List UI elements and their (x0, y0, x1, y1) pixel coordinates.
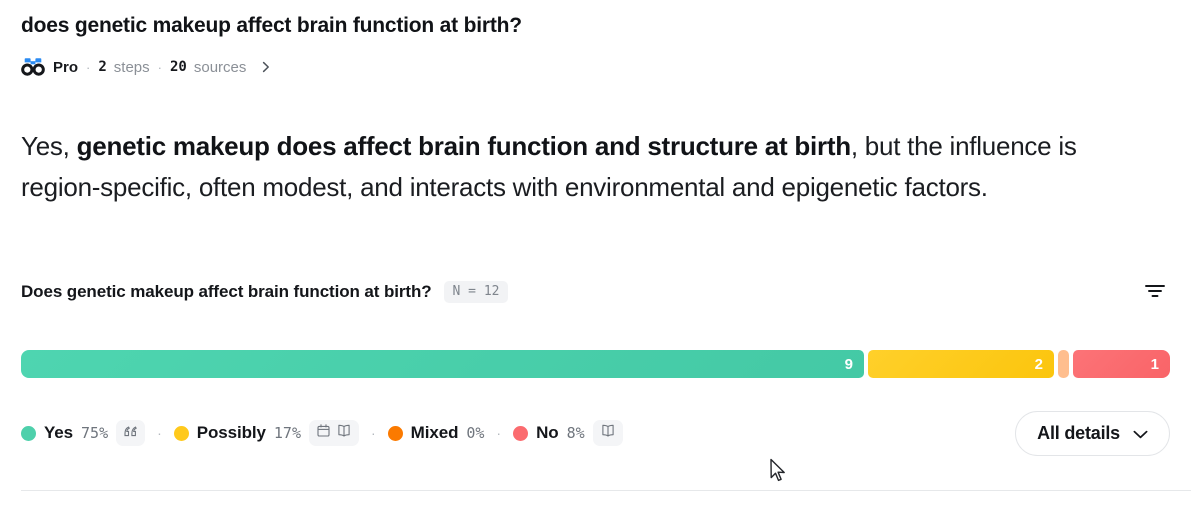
legend-item-mixed[interactable]: Mixed 0% (388, 423, 485, 443)
bar-segment-mixed[interactable] (1058, 350, 1069, 378)
all-details-button[interactable]: All details (1015, 411, 1170, 456)
bar-segment-no[interactable]: 1 (1073, 350, 1170, 378)
legend-label: Yes (44, 423, 73, 443)
answer-meta-row: Pro · 2 steps · 20 sources (20, 57, 273, 77)
steps-label: steps (114, 59, 150, 76)
legend-swatch-yes (21, 426, 36, 441)
legend-swatch-mixed (388, 426, 403, 441)
bar-segment-value: 2 (1035, 356, 1043, 373)
bar-segment-value: 1 (1151, 356, 1159, 373)
evidence-badge-book[interactable] (593, 420, 623, 446)
answer-text: Yes, genetic makeup does affect brain fu… (21, 126, 1091, 208)
binoculars-icon (20, 57, 46, 77)
filter-button[interactable] (1140, 279, 1170, 305)
poll-header: Does genetic makeup affect brain functio… (21, 279, 1170, 305)
sample-size-badge: N = 12 (444, 281, 509, 303)
legend-separator-1: · (157, 425, 162, 441)
meta-separator-1: · (86, 60, 90, 75)
bar-segment-value: 9 (845, 356, 853, 373)
answer-panel: does genetic makeup affect brain functio… (0, 0, 1191, 511)
book-icon (600, 423, 616, 443)
legend-item-no[interactable]: No 8% (513, 420, 623, 446)
legend-swatch-no (513, 426, 528, 441)
meta-separator-2: · (158, 60, 162, 75)
chart-legend: Yes 75% · Possibly 17% (21, 420, 623, 446)
poll-question: Does genetic makeup affect brain functio… (21, 282, 432, 302)
legend-label: Mixed (411, 423, 459, 443)
legend-separator-3: · (496, 425, 501, 441)
legend-percent: 8% (567, 424, 585, 442)
book-icon (336, 423, 352, 443)
sources-label: sources (194, 59, 247, 76)
page-title: does genetic makeup affect brain functio… (21, 14, 522, 38)
legend-separator-2: · (371, 425, 376, 441)
legend-swatch-possibly (174, 426, 189, 441)
all-details-label: All details (1037, 423, 1120, 444)
legend-label: Possibly (197, 423, 266, 443)
legend-item-possibly[interactable]: Possibly 17% (174, 420, 359, 446)
quote-icon (123, 423, 138, 443)
answer-bold: genetic makeup does affect brain functio… (77, 131, 851, 161)
bar-segment-yes[interactable]: 9 (21, 350, 864, 378)
filter-icon (1144, 283, 1166, 302)
mouse-cursor (769, 458, 787, 484)
calendar-icon (316, 423, 331, 443)
evidence-badge-quote[interactable] (116, 420, 145, 446)
section-divider (21, 490, 1191, 491)
answer-lead: Yes, (21, 131, 77, 161)
chevron-down-icon (1133, 423, 1148, 444)
legend-label: No (536, 423, 558, 443)
chevron-right-icon[interactable] (253, 60, 273, 74)
legend-item-yes[interactable]: Yes 75% (21, 420, 145, 446)
bar-segment-possibly[interactable]: 2 (868, 350, 1054, 378)
sources-count: 20 (170, 59, 187, 75)
consensus-stacked-bar: 9 2 1 (21, 350, 1170, 378)
legend-percent: 0% (466, 424, 484, 442)
legend-percent: 75% (81, 424, 108, 442)
legend-percent: 17% (274, 424, 301, 442)
mode-label: Pro (53, 59, 78, 76)
evidence-badge-possibly[interactable] (309, 420, 359, 446)
steps-count: 2 (98, 59, 106, 75)
